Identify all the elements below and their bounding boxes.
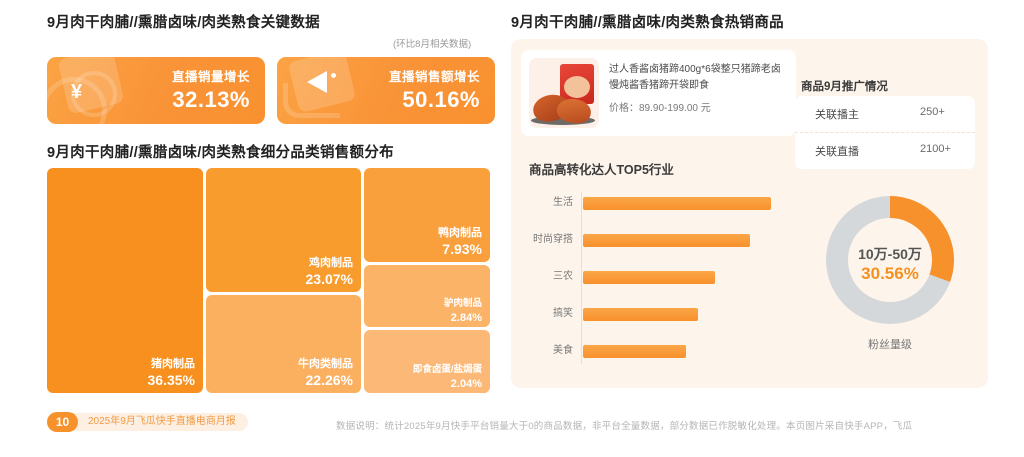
- bar-label: 搞笑: [521, 307, 573, 321]
- treemap-tile-duck[interactable]: 鸭肉制品 7.93%: [364, 168, 490, 262]
- product-name: 过人香酱卤猪蹄400g*6袋整只猪蹄老卤慢炖酱香猪蹄开袋即食: [609, 62, 787, 94]
- bar-row-4[interactable]: 美食: [521, 344, 771, 358]
- kpi-label: 直播销量增长: [172, 66, 250, 85]
- treemap-tile-label: 即食卤蛋/盐焗蛋: [413, 361, 482, 375]
- donut-ring[interactable]: 10万-50万 30.56%: [826, 196, 954, 324]
- treemap-tile-value: 7.93%: [442, 241, 482, 257]
- treemap-tile-beef[interactable]: 牛肉类制品 22.26%: [206, 295, 361, 393]
- bar-fill: [583, 271, 715, 284]
- megaphone-cone-icon: [307, 71, 327, 93]
- footer-note: 数据说明：统计2025年9月快手平台销量大于0的商品数据，非平台全量数据，部分数…: [336, 418, 912, 432]
- donut-center-value: 30.56%: [826, 264, 954, 284]
- promotion-table: 关联播主 250+ 关联直播 2100+: [795, 96, 975, 169]
- megaphone-wave-icon: [331, 73, 336, 78]
- bar-chart-title: 商品高转化达人TOP5行业: [529, 159, 674, 178]
- treemap-tile-value: 36.35%: [148, 372, 195, 388]
- donut-center-label: 10万-50万: [826, 244, 954, 264]
- kpi-section-title: 9月肉干肉脯//熏腊卤味/肉类熟食关键数据: [47, 11, 320, 32]
- top5-industry-bar-chart: 生活 时尚穿搭 三农 搞笑 美食: [521, 196, 771, 371]
- treemap-tile-label: 鸡肉制品: [309, 254, 353, 270]
- fans-level-donut-chart: 10万-50万 30.56% 粉丝量级: [810, 196, 970, 371]
- product-thumbnail: [529, 58, 599, 128]
- bar-label: 美食: [521, 344, 573, 358]
- bar-fill: [583, 234, 750, 247]
- bar-row-0[interactable]: 生活: [521, 196, 771, 210]
- kpi-subnote: (环比8月相关数据): [393, 36, 471, 50]
- bar-fill: [583, 308, 698, 321]
- treemap-tile-pork[interactable]: 猪肉制品 36.35%: [47, 168, 203, 393]
- treemap-tile-label: 牛肉类制品: [298, 355, 353, 371]
- product-card[interactable]: 过人香酱卤猪蹄400g*6袋整只猪蹄老卤慢炖酱香猪蹄开袋即食 价格：89.90-…: [521, 50, 796, 136]
- kpi-card-live-sales-amount[interactable]: 直播销售额增长 50.16%: [277, 57, 495, 124]
- promotion-key: 关联播主: [815, 106, 859, 122]
- bar-label: 生活: [521, 196, 573, 210]
- bar-fill: [583, 197, 771, 210]
- treemap-tile-value: 2.04%: [451, 378, 482, 390]
- treemap-tile-label: 驴肉制品: [444, 295, 482, 309]
- report-page: 飞瓜快手版 9月肉干肉脯//熏腊卤味/肉类熟食关键数据 (环比8月相关数据) ¥…: [0, 0, 1024, 457]
- treemap-tile-value: 23.07%: [306, 271, 353, 287]
- bar-fill: [583, 345, 686, 358]
- treemap-tile-label: 猪肉制品: [151, 355, 195, 371]
- kpi-label: 直播销售额增长: [389, 66, 480, 85]
- kpi-value: 32.13%: [172, 87, 250, 113]
- promotion-value: 250+: [920, 106, 945, 118]
- treemap-section-title: 9月肉干肉脯//熏腊卤味/肉类熟食细分品类销售额分布: [47, 141, 394, 162]
- treemap-tile-donkey[interactable]: 驴肉制品 2.84%: [364, 265, 490, 327]
- donut-caption: 粉丝量级: [810, 336, 970, 352]
- bar-row-3[interactable]: 搞笑: [521, 307, 771, 321]
- bar-row-1[interactable]: 时尚穿搭: [521, 233, 771, 247]
- page-number-badge: 10: [47, 412, 78, 432]
- treemap-tile-egg[interactable]: 即食卤蛋/盐焗蛋 2.04%: [364, 330, 490, 393]
- treemap-tile-value: 22.26%: [306, 372, 353, 388]
- category-sales-treemap: 猪肉制品 36.35% 鸡肉制品 23.07% 牛肉类制品 22.26% 鸭肉制…: [47, 168, 490, 393]
- treemap-tile-label: 鸭肉制品: [438, 224, 482, 240]
- hot-product-section-title: 9月肉干肉脯//熏腊卤味/肉类熟食热销商品: [511, 11, 784, 32]
- bar-label: 时尚穿搭: [521, 233, 573, 247]
- kpi-card-live-sales-volume[interactable]: ¥ 直播销量增长 32.13%: [47, 57, 265, 124]
- kpi-value: 50.16%: [389, 87, 480, 113]
- yuan-symbol-icon: ¥: [71, 81, 82, 104]
- table-row: 关联播主 250+: [795, 96, 975, 132]
- bar-row-2[interactable]: 三农: [521, 270, 771, 284]
- table-row: 关联直播 2100+: [795, 132, 975, 169]
- promotion-key: 关联直播: [815, 143, 859, 159]
- treemap-tile-value: 2.84%: [451, 312, 482, 324]
- report-name-tab: 2025年9月飞瓜快手直播电商月报: [66, 413, 248, 431]
- treemap-tile-chicken[interactable]: 鸡肉制品 23.07%: [206, 168, 361, 292]
- product-price: 价格：89.90-199.00 元: [609, 99, 787, 114]
- bar-label: 三农: [521, 270, 573, 284]
- promotion-title: 商品9月推广情况: [801, 78, 888, 94]
- promotion-value: 2100+: [920, 143, 951, 155]
